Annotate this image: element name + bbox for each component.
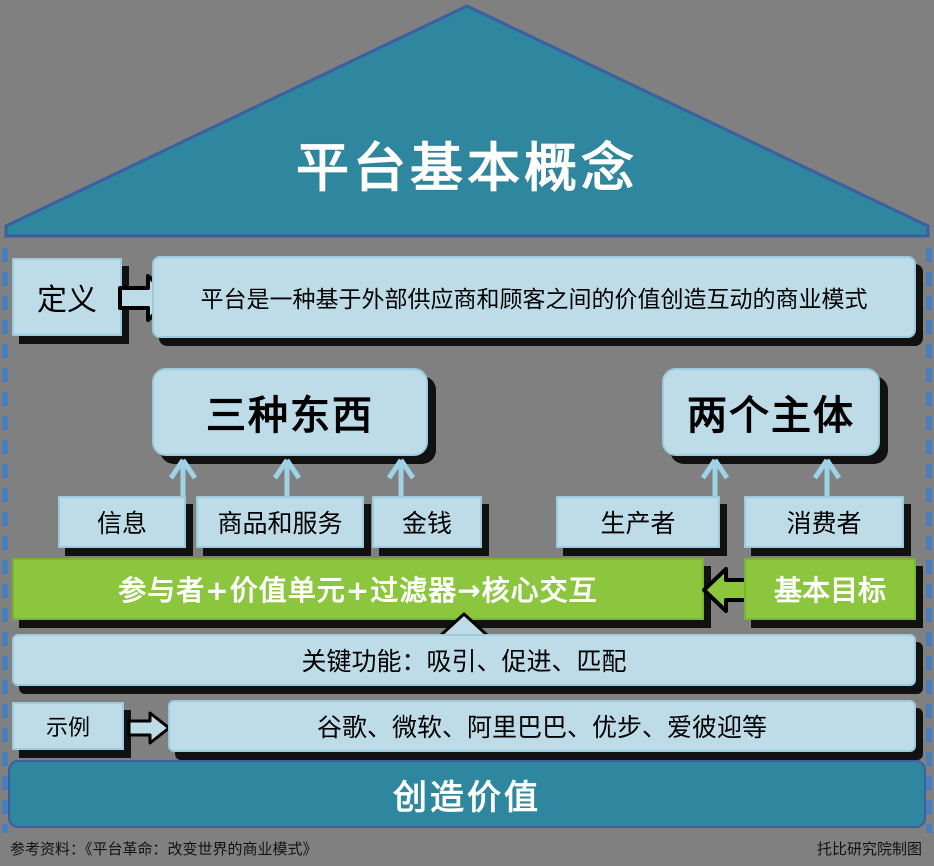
definition-text-box: 平台是一种基于外部供应商和顾客之间的价值创造互动的商业模式 [152, 256, 916, 338]
left-dashed-border [2, 248, 8, 833]
things-heading: 三种东西 [206, 383, 374, 441]
footer: 参考资料：《平台革命：改变世界的商业模式》 托比研究院制图 [0, 832, 934, 866]
actors-item-label: 消费者 [786, 504, 861, 540]
key-functions-box: 关键功能：吸引、促进、匹配 [12, 634, 916, 686]
actors-item-box-1: 生产者 [556, 496, 720, 548]
examples-arrow-icon [126, 710, 172, 746]
diagram-canvas: 平台基本概念 定义 平台是一种基于外部供应商和顾客之间的价值创造互动的商业模式 … [0, 0, 934, 866]
examples-text: 谷歌、微软、阿里巴巴、优步、爱彼迎等 [317, 708, 767, 744]
actors-item-label: 生产者 [600, 504, 675, 540]
examples-label-box: 示例 [12, 702, 124, 750]
things-item-label: 商品和服务 [217, 504, 342, 540]
goal-text: 基本目标 [774, 569, 886, 609]
things-item-box-1: 信息 [58, 496, 186, 548]
definition-label: 定义 [37, 275, 97, 319]
core-formula-box: 参与者+价值单元+过滤器→核心交互 [12, 558, 704, 620]
things-item-box-2: 商品和服务 [196, 496, 364, 548]
footer-credit: 托比研究院制图 [817, 838, 922, 859]
things-item-label: 金钱 [402, 504, 452, 540]
bottom-bar-text: 创造价值 [393, 770, 541, 819]
actors-heading-box: 两个主体 [662, 368, 880, 456]
definition-text: 平台是一种基于外部供应商和顾客之间的价值创造互动的商业模式 [201, 280, 868, 314]
examples-text-box: 谷歌、微软、阿里巴巴、优步、爱彼迎等 [168, 700, 916, 752]
actors-item-box-2: 消费者 [744, 496, 904, 548]
things-item-box-3: 金钱 [372, 496, 482, 548]
core-formula-text: 参与者+价值单元+过滤器→核心交互 [118, 569, 597, 609]
bottom-bar-box: 创造价值 [8, 760, 926, 828]
page-title: 平台基本概念 [0, 142, 934, 195]
right-dashed-border [926, 248, 932, 833]
goal-box: 基本目标 [744, 558, 916, 620]
key-functions-text: 关键功能：吸引、促进、匹配 [301, 642, 626, 678]
actors-heading: 两个主体 [687, 383, 855, 441]
footer-source: 参考资料：《平台革命：改变世界的商业模式》 [10, 838, 318, 859]
examples-label: 示例 [46, 710, 90, 742]
things-heading-box: 三种东西 [152, 368, 428, 456]
things-item-label: 信息 [97, 504, 147, 540]
roof-shape: 平台基本概念 [0, 2, 934, 238]
definition-label-box: 定义 [12, 258, 122, 336]
